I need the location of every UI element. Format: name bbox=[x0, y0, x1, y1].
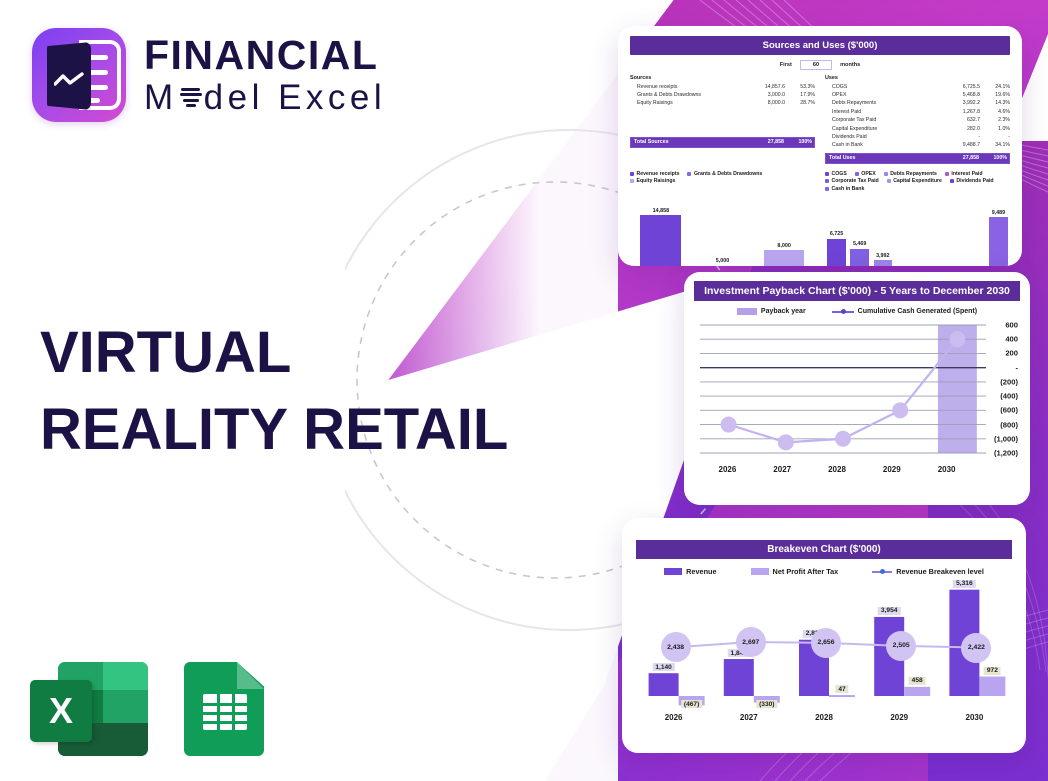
legend-item: Debts Repayments bbox=[884, 171, 937, 177]
total-sources-row: Total Sources 27,858 100% bbox=[630, 137, 815, 148]
npat-value-label: 47 bbox=[835, 685, 848, 693]
bar-column: 5,000 bbox=[702, 203, 743, 266]
npat-value-label: (330) bbox=[756, 700, 777, 708]
bar bbox=[850, 249, 869, 266]
x-axis-tick-label: 2030 bbox=[938, 465, 956, 474]
revenue-value-label: 5,316 bbox=[953, 580, 976, 588]
payback-x-axis: 20262027202820292030 bbox=[700, 465, 974, 474]
bar bbox=[989, 217, 1008, 266]
sources-heading: Sources bbox=[630, 75, 815, 81]
row-pct: 28.7% bbox=[785, 99, 815, 107]
lines-icon bbox=[180, 88, 202, 108]
legend-line-swatch bbox=[832, 308, 854, 315]
legend-label: Revenue receipts bbox=[637, 171, 680, 177]
data-point bbox=[949, 331, 965, 347]
row-pct: 19.6% bbox=[980, 91, 1010, 99]
payback-y-axis: 600400200-(200)(400)(600)(800)(1,000)(1,… bbox=[978, 321, 1018, 451]
legend-swatch bbox=[825, 187, 829, 191]
row-label: Capital Expenditure bbox=[825, 125, 944, 133]
sources-uses-title: Sources and Uses ($'000) bbox=[630, 36, 1010, 55]
revenue-bar bbox=[724, 659, 754, 696]
period-suffix: months bbox=[840, 62, 860, 68]
bar-column: 5,469 bbox=[850, 203, 869, 266]
legend-item-breakeven-level: Revenue Breakeven level bbox=[872, 567, 984, 576]
row-value: 9,488.7 bbox=[944, 141, 980, 149]
table-row: Cash in Bank9,488.734.1% bbox=[825, 141, 1010, 149]
total-label: Total Sources bbox=[631, 139, 748, 145]
total-pct: 100% bbox=[784, 139, 814, 145]
bar-column: 3,992 bbox=[874, 203, 893, 266]
sources-chart-legend: Revenue receiptsGrants & Debts Drawdowns… bbox=[630, 171, 815, 186]
legend-swatch bbox=[945, 172, 949, 176]
bar bbox=[874, 260, 893, 266]
npat-bar bbox=[904, 687, 930, 696]
bar-value-label: 5,000 bbox=[716, 258, 730, 264]
legend-swatch bbox=[884, 172, 888, 176]
brand-name-secondary: M del Excel bbox=[144, 80, 386, 115]
bar-value-label: 9,489 bbox=[992, 210, 1006, 216]
bar-column: 6,725 bbox=[827, 203, 846, 266]
legend-label: Debts Repayments bbox=[890, 171, 937, 177]
breakeven-value-bubble: 2,422 bbox=[961, 633, 991, 663]
legend-label: Cash in Bank bbox=[832, 186, 865, 192]
total-label: Total Uses bbox=[826, 155, 943, 161]
legend-item: Revenue receipts bbox=[630, 171, 679, 177]
bar-column: 282 bbox=[943, 203, 962, 266]
row-label: COGS bbox=[825, 83, 944, 91]
y-axis-tick-label: 400 bbox=[1005, 335, 1018, 344]
breakeven-value-bubble: 2,697 bbox=[736, 627, 766, 657]
financial-model-logo-icon bbox=[32, 28, 126, 122]
promo-slide: FINANCIAL M del Excel VIRTUAL REALITY RE… bbox=[0, 0, 1048, 781]
table-row: OPEX5,468.819.6% bbox=[825, 91, 1010, 99]
period-months-input[interactable]: 60 bbox=[800, 60, 832, 70]
breakeven-value-bubble: 2,438 bbox=[661, 632, 691, 662]
npat-bar bbox=[829, 695, 855, 697]
x-axis-tick-label: 2029 bbox=[883, 465, 901, 474]
legend-swatch bbox=[664, 568, 682, 575]
uses-bar-chart: 6,7255,4693,9921,26863328209,489 bbox=[825, 195, 1010, 266]
revenue-value-label: 3,954 bbox=[878, 607, 901, 615]
y-axis-tick-label: - bbox=[1015, 363, 1018, 372]
breakeven-plot-area: 20262027202820292030 1,1401,8482,8143,95… bbox=[636, 580, 1012, 720]
uses-heading: Uses bbox=[825, 75, 1010, 81]
legend-label: OPEX bbox=[861, 171, 875, 177]
legend-swatch bbox=[950, 179, 954, 183]
row-pct: 53.3% bbox=[785, 83, 815, 91]
breakeven-card[interactable]: Breakeven Chart ($'000) Revenue Net Prof… bbox=[622, 518, 1026, 753]
row-label: Interest Paid bbox=[825, 108, 944, 116]
row-label: Equity Raisings bbox=[630, 99, 749, 107]
period-selector[interactable]: First 60 months bbox=[630, 60, 1010, 70]
x-axis-tick-label: 2028 bbox=[828, 465, 846, 474]
legend-label: Dividends Paid bbox=[956, 178, 993, 184]
legend-swatch bbox=[751, 568, 769, 575]
row-pct: 17.9% bbox=[785, 91, 815, 99]
legend-item-cumulative-cash: Cumulative Cash Generated (Spent) bbox=[832, 308, 977, 315]
breakeven-chart-legend: Revenue Net Profit After Tax Revenue Bre… bbox=[636, 567, 1012, 576]
bar-column: 14,858 bbox=[640, 203, 681, 266]
legend-swatch bbox=[825, 172, 829, 176]
legend-item: Capital Expenditure bbox=[887, 178, 942, 184]
row-value: 5,468.8 bbox=[944, 91, 980, 99]
y-axis-tick-label: (1,000) bbox=[994, 434, 1018, 443]
legend-item: Interest Paid bbox=[945, 171, 983, 177]
legend-label: Revenue bbox=[686, 567, 716, 576]
legend-label: Payback year bbox=[761, 308, 806, 315]
x-axis-tick-label: 2029 bbox=[862, 713, 937, 722]
total-uses-row: Total Uses 27,858 100% bbox=[825, 153, 1010, 164]
sources-bar-chart: 14,8585,0008,000 bbox=[630, 195, 815, 266]
npat-value-label: 458 bbox=[909, 677, 926, 685]
legend-label: Capital Expenditure bbox=[893, 178, 942, 184]
row-pct: 14.3% bbox=[980, 99, 1010, 107]
legend-swatch bbox=[630, 172, 634, 176]
data-point bbox=[835, 431, 851, 447]
row-pct: - bbox=[980, 133, 1010, 141]
legend-label: Corporate Tax Paid bbox=[832, 178, 879, 184]
table-row: Corporate Tax Paid632.72.3% bbox=[825, 116, 1010, 124]
data-point bbox=[721, 417, 737, 433]
payback-chart-legend: Payback year Cumulative Cash Generated (… bbox=[694, 308, 1020, 315]
google-sheets-icon bbox=[184, 660, 264, 758]
payback-plot-area: 600400200-(200)(400)(600)(800)(1,000)(1,… bbox=[694, 321, 1020, 476]
bar bbox=[764, 250, 805, 266]
legend-label: Net Profit After Tax bbox=[773, 567, 839, 576]
legend-label: Equity Raisings bbox=[637, 178, 676, 184]
legend-item: COGS bbox=[825, 171, 847, 177]
period-prefix: First bbox=[780, 62, 792, 68]
bar-value-label: 3,992 bbox=[876, 253, 890, 259]
brand-name-primary: FINANCIAL bbox=[144, 35, 386, 76]
cumulative-cash-line bbox=[729, 339, 958, 442]
x-axis-tick-label: 2027 bbox=[773, 465, 791, 474]
payback-line-chart bbox=[694, 321, 994, 461]
bar bbox=[827, 239, 846, 266]
row-value: 14,857.6 bbox=[749, 83, 785, 91]
row-value: 3,000.0 bbox=[749, 91, 785, 99]
row-pct: 34.1% bbox=[980, 141, 1010, 149]
bar-column: 0 bbox=[966, 203, 985, 266]
row-label: Grants & Debts Drawdowns bbox=[630, 91, 749, 99]
legend-item: Grants & Debts Drawdowns bbox=[687, 171, 762, 177]
table-row: COGS6,725.524.1% bbox=[825, 83, 1010, 91]
legend-label: Grants & Debts Drawdowns bbox=[694, 171, 762, 177]
npat-bar bbox=[979, 677, 1005, 696]
legend-label: Cumulative Cash Generated (Spent) bbox=[858, 308, 977, 315]
x-axis-tick-label: 2028 bbox=[786, 713, 861, 722]
x-axis-tick-label: 2027 bbox=[711, 713, 786, 722]
bar-column: 1,268 bbox=[897, 203, 916, 266]
table-row: Debts Repayments3,992.214.3% bbox=[825, 99, 1010, 107]
excel-x-glyph: X bbox=[30, 680, 92, 742]
legend-item: Corporate Tax Paid bbox=[825, 178, 879, 184]
table-row: Grants & Debts Drawdowns 3,000.0 17.9% bbox=[630, 91, 815, 99]
legend-swatch bbox=[855, 172, 859, 176]
row-value: 8,000.0 bbox=[749, 99, 785, 107]
legend-swatch bbox=[825, 179, 829, 183]
legend-swatch bbox=[737, 308, 757, 315]
bar-value-label: 5,469 bbox=[853, 241, 867, 247]
table-row: Revenue receipts 14,857.6 53.3% bbox=[630, 83, 815, 91]
x-axis-tick-label: 2026 bbox=[636, 713, 711, 722]
row-label: OPEX bbox=[825, 91, 944, 99]
total-value: 27,858 bbox=[943, 155, 979, 161]
sources-table: Sources Revenue receipts 14,857.6 53.3% … bbox=[630, 75, 815, 164]
microsoft-excel-icon: X bbox=[30, 660, 148, 758]
table-row: Equity Raisings 8,000.0 28.7% bbox=[630, 99, 815, 107]
legend-item: OPEX bbox=[855, 171, 876, 177]
breakeven-value-bubble: 2,505 bbox=[886, 631, 916, 661]
brand-rest: del Excel bbox=[204, 80, 387, 115]
row-label: Cash in Bank bbox=[825, 141, 944, 149]
row-pct: 1.0% bbox=[980, 125, 1010, 133]
headline-line-1: VIRTUAL bbox=[40, 315, 508, 392]
page-title: VIRTUAL REALITY RETAIL bbox=[40, 315, 508, 468]
uses-chart-legend: COGSOPEXDebts RepaymentsInterest PaidCor… bbox=[825, 171, 1010, 194]
row-pct: 24.1% bbox=[980, 83, 1010, 91]
legend-label: Revenue Breakeven level bbox=[896, 567, 984, 576]
legend-label: COGS bbox=[832, 171, 847, 177]
breakeven-value-bubble: 2,656 bbox=[811, 628, 841, 658]
y-axis-tick-label: 200 bbox=[1005, 349, 1018, 358]
npat-value-label: 972 bbox=[984, 667, 1001, 675]
breakeven-chart-title: Breakeven Chart ($'000) bbox=[636, 540, 1012, 559]
legend-item: Equity Raisings bbox=[630, 178, 675, 184]
breakeven-x-axis: 20262027202820292030 bbox=[636, 713, 1012, 722]
bar-column: 633 bbox=[920, 203, 939, 266]
format-icons: X bbox=[30, 660, 264, 758]
npat-value-label: (467) bbox=[681, 700, 702, 708]
brand-logo: FINANCIAL M del Excel bbox=[32, 28, 386, 122]
bar-column: 9,489 bbox=[989, 203, 1008, 266]
x-axis-tick-label: 2030 bbox=[937, 713, 1012, 722]
total-pct: 100% bbox=[979, 155, 1009, 161]
legend-item-revenue: Revenue bbox=[664, 567, 716, 576]
bar-value-label: 14,858 bbox=[653, 208, 670, 214]
investment-payback-card[interactable]: Investment Payback Chart ($'000) - 5 Yea… bbox=[684, 272, 1030, 505]
legend-item-payback-year: Payback year bbox=[737, 308, 806, 315]
data-point bbox=[778, 434, 794, 450]
y-axis-tick-label: (800) bbox=[1000, 420, 1018, 429]
bar bbox=[640, 215, 681, 266]
row-value: 1,267.8 bbox=[944, 108, 980, 116]
row-pct: 4.6% bbox=[980, 108, 1010, 116]
table-row: Capital Expenditure282.01.0% bbox=[825, 125, 1010, 133]
row-value: 282.0 bbox=[944, 125, 980, 133]
brand-m: M bbox=[144, 80, 178, 115]
headline-line-2: REALITY RETAIL bbox=[40, 392, 508, 469]
bar-column: 8,000 bbox=[764, 203, 805, 266]
revenue-value-label: 1,140 bbox=[652, 663, 675, 671]
legend-swatch bbox=[630, 179, 634, 183]
table-row: Interest Paid1,267.84.6% bbox=[825, 108, 1010, 116]
table-row: Dividends Paid-- bbox=[825, 133, 1010, 141]
data-point bbox=[892, 402, 908, 418]
y-axis-tick-label: (400) bbox=[1000, 392, 1018, 401]
bar-value-label: 6,725 bbox=[830, 231, 844, 237]
row-label: Revenue receipts bbox=[630, 83, 749, 91]
legend-swatch bbox=[887, 179, 891, 183]
total-value: 27,858 bbox=[748, 139, 784, 145]
legend-swatch bbox=[687, 172, 691, 176]
y-axis-tick-label: (600) bbox=[1000, 406, 1018, 415]
x-axis-tick-label: 2026 bbox=[719, 465, 737, 474]
row-pct: 2.3% bbox=[980, 116, 1010, 124]
row-label: Dividends Paid bbox=[825, 133, 944, 141]
y-axis-tick-label: 600 bbox=[1005, 321, 1018, 330]
row-label: Corporate Tax Paid bbox=[825, 116, 944, 124]
row-label: Debts Repayments bbox=[825, 99, 944, 107]
legend-item: Dividends Paid bbox=[950, 178, 994, 184]
legend-line-swatch bbox=[872, 568, 892, 575]
row-value: 632.7 bbox=[944, 116, 980, 124]
revenue-bar bbox=[649, 673, 679, 696]
legend-label: Interest Paid bbox=[951, 171, 982, 177]
row-value: 3,992.2 bbox=[944, 99, 980, 107]
row-value: 6,725.5 bbox=[944, 83, 980, 91]
uses-table: Uses COGS6,725.524.1% OPEX5,468.819.6% D… bbox=[825, 75, 1010, 164]
sources-and-uses-card[interactable]: Sources and Uses ($'000) First 60 months… bbox=[618, 26, 1022, 266]
legend-item-npat: Net Profit After Tax bbox=[751, 567, 839, 576]
payback-chart-title: Investment Payback Chart ($'000) - 5 Yea… bbox=[694, 281, 1020, 301]
legend-item: Cash in Bank bbox=[825, 186, 864, 192]
bar-value-label: 8,000 bbox=[777, 243, 791, 249]
y-axis-tick-label: (1,200) bbox=[994, 449, 1018, 458]
y-axis-tick-label: (200) bbox=[1000, 377, 1018, 386]
chart-zigzag-icon bbox=[54, 72, 84, 88]
row-value: - bbox=[944, 133, 980, 141]
